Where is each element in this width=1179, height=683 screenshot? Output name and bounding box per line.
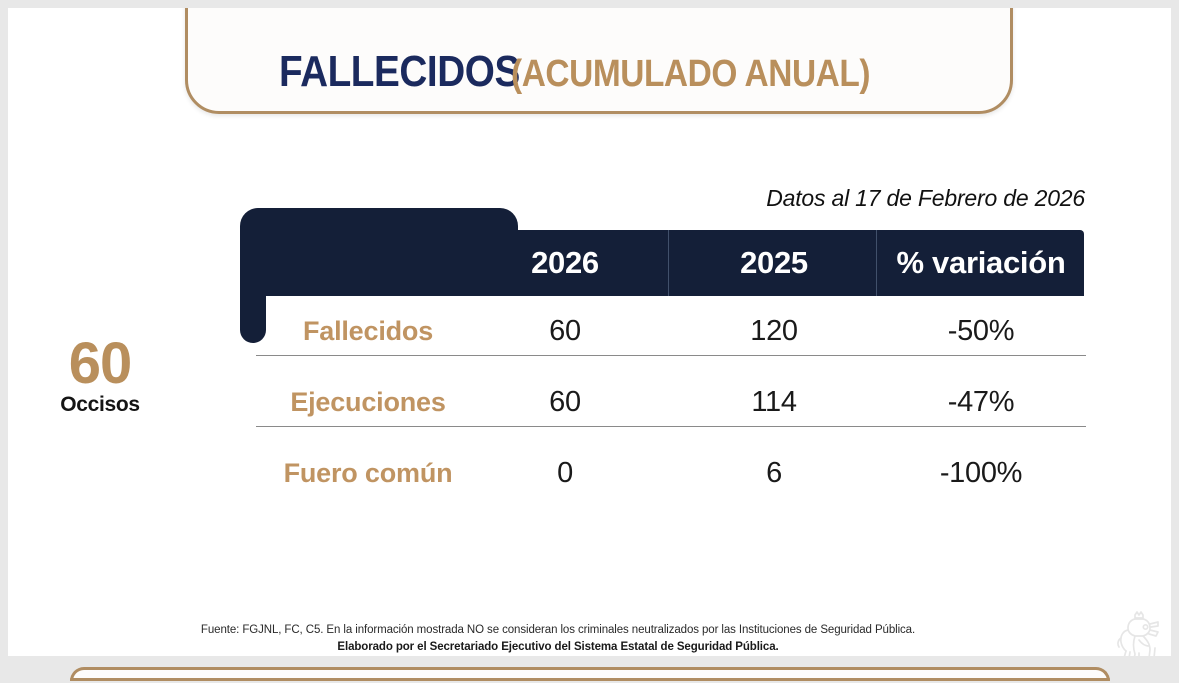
slide-title-plate: FALLECIDOS(ACUMULADO ANUAL) — [185, 8, 1013, 114]
table-row: Fallecidos 60 120 -50% — [256, 296, 1086, 367]
row-divider — [256, 355, 1086, 356]
row-label: Ejecuciones — [268, 367, 468, 438]
kpi-number: 60 — [30, 336, 170, 392]
title-sub-text: (ACUMULADO ANUAL) — [511, 53, 870, 96]
table-row: Ejecuciones 60 114 -47% — [256, 367, 1086, 438]
row-label: Fuero común — [268, 438, 468, 509]
row-value-2026: 60 — [460, 296, 670, 367]
header-separator-2 — [876, 230, 877, 296]
footer-note: Fuente: FGJNL, FC, C5. En la información… — [8, 622, 1108, 656]
row-value-variacion: -47% — [878, 367, 1084, 438]
row-value-2025: 114 — [670, 367, 878, 438]
row-value-2025: 6 — [670, 438, 878, 509]
row-value-variacion: -100% — [878, 438, 1084, 509]
header-separator-1 — [668, 230, 669, 296]
row-label: Fallecidos — [268, 296, 468, 367]
kpi-block: 60 Occisos — [30, 336, 170, 418]
slide-canvas: FALLECIDOS(ACUMULADO ANUAL) 60 Occisos D… — [8, 8, 1171, 656]
lion-crest-icon — [1114, 610, 1164, 656]
row-value-variacion: -50% — [878, 296, 1084, 367]
table-row: Fuero común 0 6 -100% — [256, 438, 1086, 509]
title-main-text: FALLECIDOS — [279, 47, 520, 97]
row-divider — [256, 426, 1086, 427]
page-title: FALLECIDOS(ACUMULADO ANUAL) — [279, 47, 919, 97]
row-value-2026: 0 — [460, 438, 670, 509]
row-value-2025: 120 — [670, 296, 878, 367]
next-slide-title-plate-sliver — [70, 667, 1110, 681]
column-header-2026: 2026 — [460, 230, 670, 296]
column-header-variacion: % variación — [878, 230, 1084, 296]
kpi-label: Occisos — [30, 392, 170, 418]
row-value-2026: 60 — [460, 367, 670, 438]
footer-author-line: Elaborado por el Secretariado Ejecutivo … — [8, 639, 1108, 656]
column-header-2025: 2025 — [670, 230, 878, 296]
datos-note: Datos al 17 de Febrero de 2026 — [8, 185, 1085, 212]
footer-source-line: Fuente: FGJNL, FC, C5. En la información… — [8, 622, 1108, 639]
